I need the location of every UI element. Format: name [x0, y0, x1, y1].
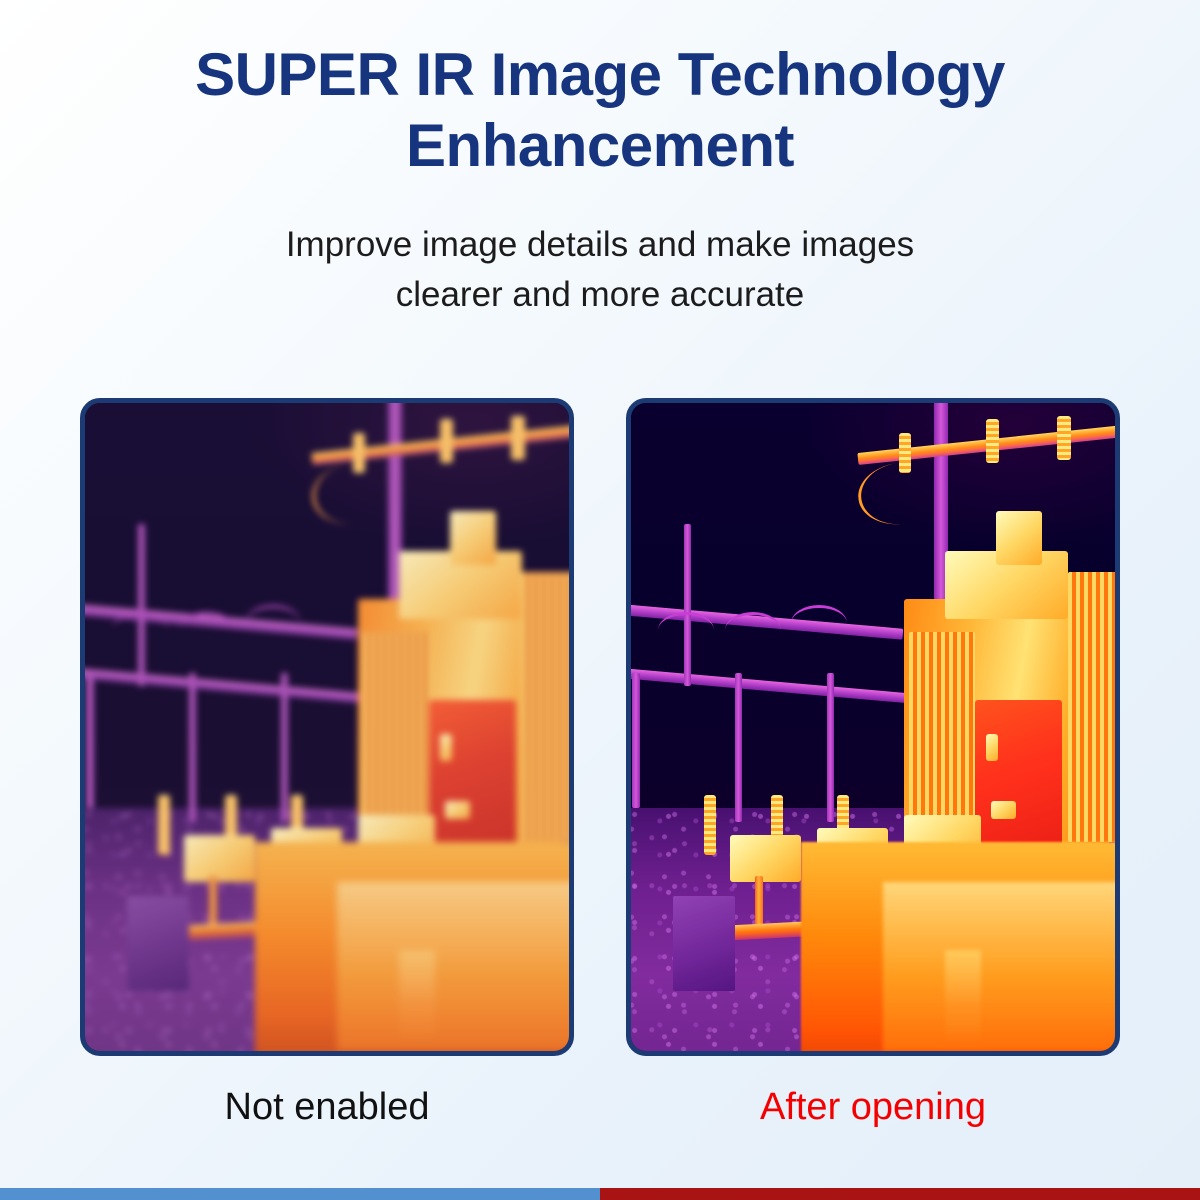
scene-gantry-post-2 [632, 673, 639, 808]
scene-insulator-top-3 [1057, 416, 1070, 460]
scene-foreground-gear-1 [184, 835, 256, 882]
scene-wet-pad-highlight [337, 882, 569, 1051]
thermal-image-after-viewport [631, 403, 1115, 1051]
scene-gantry-post-4 [827, 673, 834, 822]
footer-bar-left-segment [0, 1188, 600, 1200]
heading-block: SUPER IR Image Technology Enhancement Im… [0, 0, 1200, 321]
page-title-line-2: Enhancement [406, 112, 794, 179]
page-subtitle: Improve image details and make images cl… [220, 220, 980, 322]
scene-foreground-gear-1 [730, 835, 802, 882]
scene-sag-wire-2 [179, 612, 235, 649]
scene-sag-wire-1 [658, 612, 714, 649]
caption-after: After opening [760, 1086, 986, 1129]
scene-control-cabinet [975, 700, 1062, 849]
scene-gantry-post-2 [86, 673, 93, 808]
scene-cabinet-vent [440, 734, 452, 761]
scene-sag-wire-2 [725, 612, 781, 649]
page-title: SUPER IR Image Technology Enhancement [130, 40, 1070, 182]
comparison-panel-before: Not enabled [80, 398, 574, 1129]
thermal-image-before-viewport [85, 403, 569, 1051]
scene-gantry-post-4 [281, 673, 288, 822]
scene-transformer-fins-right [1068, 572, 1115, 842]
scene-insulator-top-2 [986, 419, 999, 463]
scene-cabinet-vent [986, 734, 998, 761]
scene-insulator-low-1 [704, 795, 716, 856]
scene-ground-cabinet [673, 896, 734, 991]
scene-gantry-post-1 [138, 524, 146, 686]
scene-insulator-top-3 [511, 416, 524, 460]
scene-gantry-post-1 [684, 524, 692, 686]
comparison-panel-after: After opening [626, 398, 1120, 1129]
thermal-scene-after [631, 403, 1115, 1051]
footer-bar-right-segment [600, 1188, 1200, 1200]
scene-gantry-post-3 [189, 673, 196, 822]
scene-sag-wire-1 [112, 612, 168, 649]
marketing-page: SUPER IR Image Technology Enhancement Im… [0, 0, 1200, 1200]
scene-insulator-low-1 [158, 795, 170, 856]
page-subtitle-line-2: clearer and more accurate [396, 275, 805, 314]
scene-reflection-column [399, 950, 435, 1045]
comparison-row: Not enabled [0, 398, 1200, 1129]
scene-cabinet-label [445, 801, 471, 819]
footer-bar [0, 1188, 1200, 1200]
thermal-image-after [626, 398, 1120, 1056]
scene-transformer-bushing-block [996, 511, 1042, 565]
thermal-scene-before [85, 403, 569, 1051]
thermal-image-before [80, 398, 574, 1056]
caption-before: Not enabled [225, 1086, 430, 1129]
scene-transformer-fins-right [522, 572, 569, 842]
scene-cabinet-label [991, 801, 1017, 819]
scene-wet-pad-highlight [883, 882, 1115, 1051]
page-title-line-1: SUPER IR Image Technology [195, 41, 1005, 108]
page-subtitle-line-1: Improve image details and make images [286, 225, 914, 264]
scene-ground-cabinet [127, 896, 188, 991]
scene-control-cabinet [429, 700, 516, 849]
scene-transformer-bushing-block [450, 511, 496, 565]
scene-gantry-post-3 [735, 673, 742, 822]
scene-insulator-top-2 [440, 419, 453, 463]
scene-reflection-column [945, 950, 981, 1045]
